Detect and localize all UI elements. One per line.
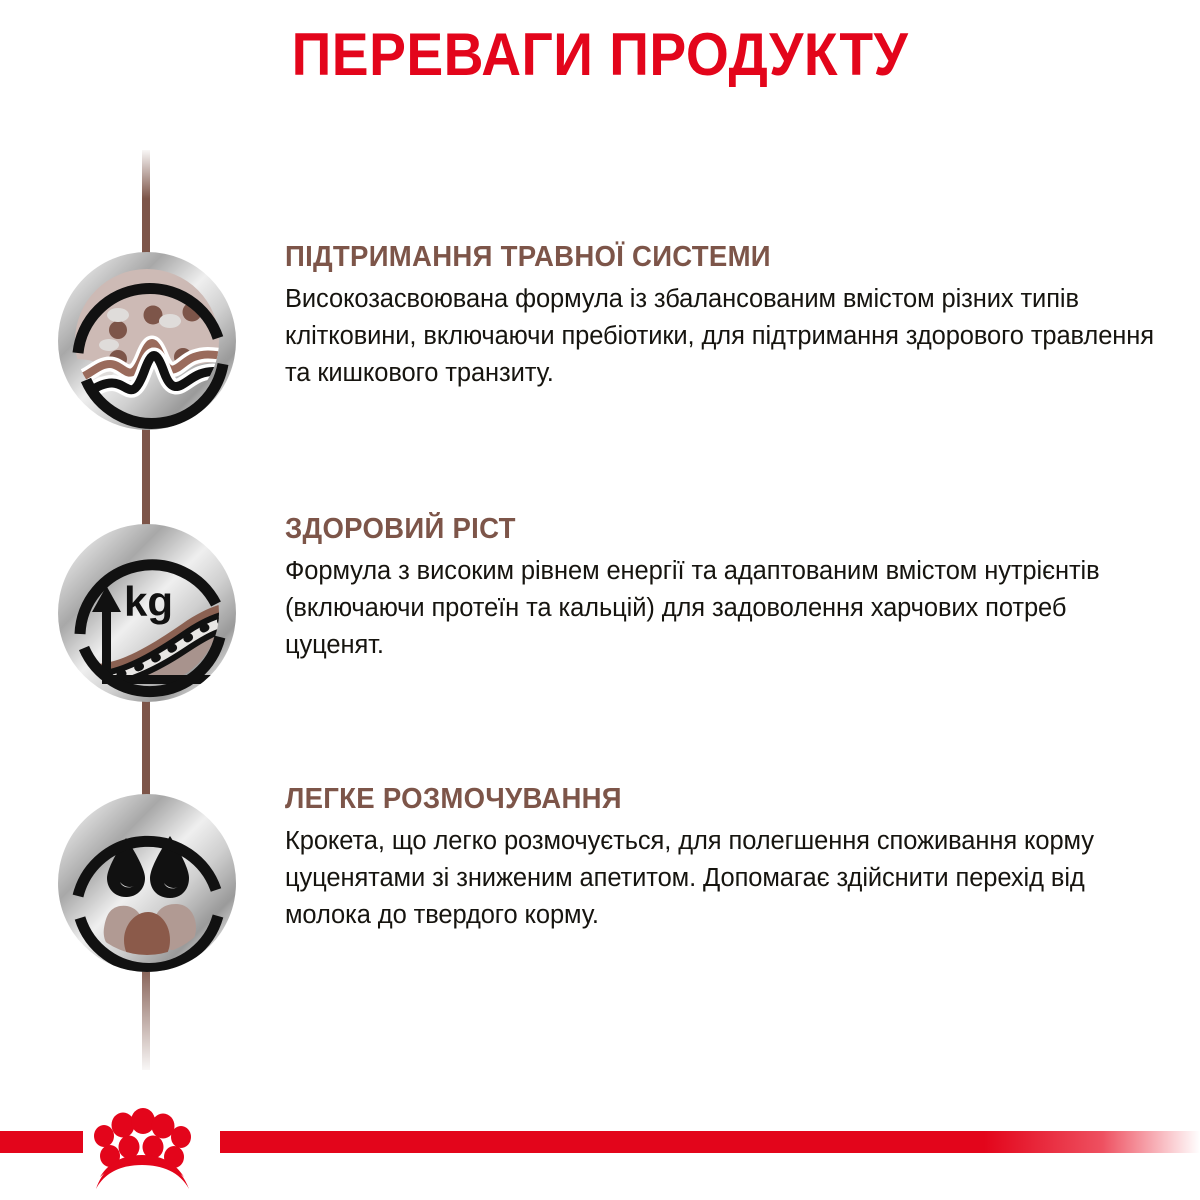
product-benefits-page: ПЕРЕВАГИ ПРОДУКТУ: [0, 0, 1200, 1200]
easy-rehydration-glyph: [58, 794, 236, 972]
benefit-text-column: ЗДОРОВИЙ РІСТ Формула з високим рівнем е…: [285, 512, 1155, 664]
benefit-heading: ЛЕГКЕ РОЗМОЧУВАННЯ: [285, 782, 1112, 816]
benefit-body: Формула з високим рівнем енергії та адап…: [285, 553, 1155, 664]
connector-rail-2: [142, 690, 150, 802]
footer-bar-right: [220, 1131, 1200, 1153]
connector-rail-top: [142, 150, 150, 258]
healthy-growth-glyph: kg: [58, 524, 236, 702]
benefit-heading: ЗДОРОВИЙ РІСТ: [285, 512, 1112, 546]
benefit-body: Крокета, що легко розмочується, для поле…: [285, 823, 1155, 934]
footer-bar-left: [0, 1131, 83, 1153]
easy-rehydration-icon: [58, 794, 236, 972]
healthy-growth-kg-icon: kg: [58, 524, 236, 702]
digestive-system-glyph: [58, 252, 236, 430]
page-title: ПЕРЕВАГИ ПРОДУКТУ: [48, 22, 1152, 88]
benefit-icon-wrapper: [58, 794, 236, 972]
benefit-icon-wrapper: [58, 252, 236, 430]
connector-rail-1: [142, 418, 150, 536]
benefit-body: Високозасвоювана формула із збалансовани…: [285, 281, 1155, 392]
benefit-text-column: ПІДТРИМАННЯ ТРАВНОЇ СИСТЕМИ Високозасвою…: [285, 240, 1155, 392]
footer: [0, 1105, 1200, 1200]
benefit-text-column: ЛЕГКЕ РОЗМОЧУВАННЯ Крокета, що легко роз…: [285, 782, 1155, 934]
digestive-system-icon: [58, 252, 236, 430]
kg-label: kg: [124, 578, 173, 625]
benefit-icon-wrapper: kg: [58, 524, 236, 702]
benefit-heading: ПІДТРИМАННЯ ТРАВНОЇ СИСТЕМИ: [285, 240, 1112, 274]
crown-glyph: [82, 1101, 202, 1196]
royal-canin-crown-logo: [82, 1101, 202, 1196]
connector-rail-bottom: [142, 960, 150, 1070]
